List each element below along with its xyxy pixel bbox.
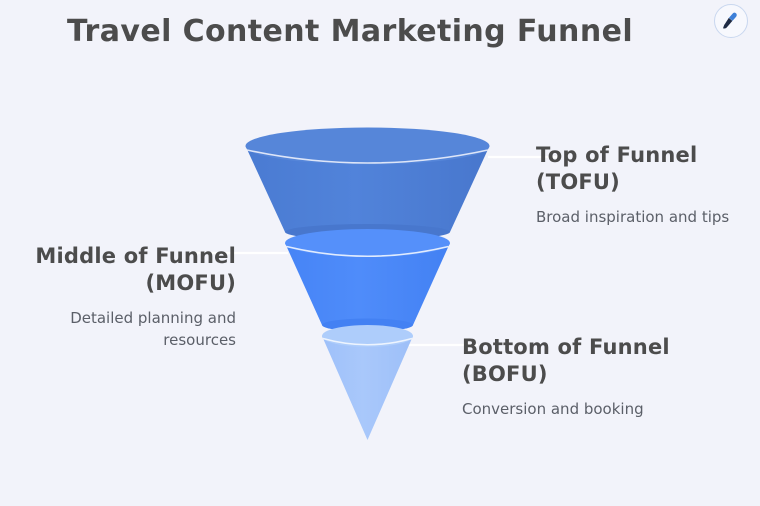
- stage-title-bofu: Bottom of Funnel (BOFU): [462, 334, 752, 388]
- stage-title-tofu-line2: (TOFU): [536, 170, 620, 194]
- stage-title-mofu-line1: Middle of Funnel: [35, 244, 236, 268]
- stage-title-bofu-line2: (BOFU): [462, 362, 548, 386]
- stage-title-tofu-line1: Top of Funnel: [536, 143, 697, 167]
- page-title: Travel Content Marketing Funnel: [0, 14, 700, 49]
- stage-title-mofu-line2: (MOFU): [145, 271, 236, 295]
- stage-title-tofu: Top of Funnel (TOFU): [536, 142, 752, 196]
- funnel-segment-mofu[interactable]: [285, 229, 450, 332]
- funnel-segment-bofu[interactable]: [322, 325, 413, 440]
- stage-label-mofu[interactable]: Middle of Funnel (MOFU) Detailed plannin…: [4, 243, 236, 351]
- stage-desc-mofu: Detailed planning and resources: [4, 308, 236, 352]
- diagram-canvas: Travel Content Marketing Funnel: [0, 0, 760, 506]
- stage-desc-bofu: Conversion and booking: [462, 399, 752, 421]
- paintbrush-logo-icon: [720, 10, 742, 32]
- brand-badge[interactable]: [714, 4, 748, 38]
- stage-label-bofu[interactable]: Bottom of Funnel (BOFU) Conversion and b…: [462, 334, 752, 421]
- stage-title-mofu: Middle of Funnel (MOFU): [4, 243, 236, 297]
- funnel-segment-tofu[interactable]: [246, 128, 490, 241]
- stage-title-bofu-line1: Bottom of Funnel: [462, 335, 670, 359]
- stage-label-tofu[interactable]: Top of Funnel (TOFU) Broad inspiration a…: [536, 142, 752, 229]
- stage-desc-tofu: Broad inspiration and tips: [536, 207, 752, 229]
